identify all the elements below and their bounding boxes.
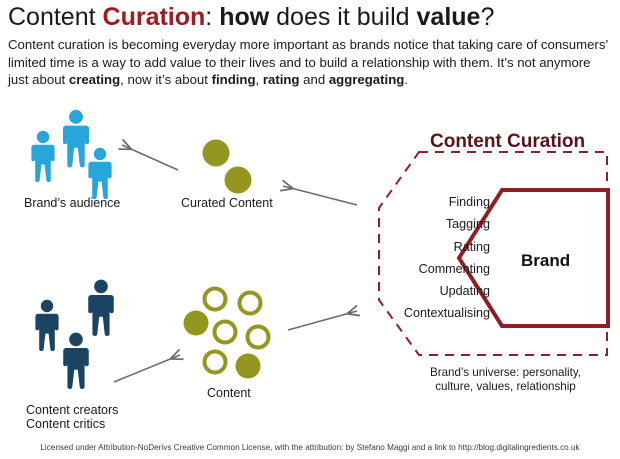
brand-audience-figures [31,110,111,199]
content-label: Content [207,386,251,401]
infographic-canvas: Content Curation: how does it build valu… [0,0,620,459]
audience-person-1 [31,131,54,182]
content-dot-filled-2 [236,354,261,379]
brand-label: Brand [521,251,570,271]
content-creators-figures [35,280,113,389]
curation-step-commenting: Commenting [368,258,490,280]
arrow-creators-to-content [114,355,180,382]
brand-universe-caption-line-2: culture, values, relationship [398,380,613,394]
content-ring-4 [248,327,269,348]
arrow-curated-to-audience [122,145,178,170]
curated-dot-1 [203,140,230,167]
audience-person-3 [88,148,111,199]
brand-universe-caption-line-1: Brand’s universe: personality, [398,366,613,380]
content-dot-filled-1 [184,311,209,336]
curation-step-updating: Updating [368,280,490,302]
curated-content-label: Curated Content [181,196,273,211]
curated-dot-2 [225,167,252,194]
license-footer: Licensed under Attribution-NoDerivs Crea… [0,442,620,453]
content-dots-cluster [184,289,269,379]
arrow-curation-to-curated [283,186,357,205]
content-ring-2 [240,293,261,314]
content-curation-heading: Content Curation [430,131,585,153]
content-ring-1 [205,289,226,310]
brand-universe-caption: Brand’s universe: personality, culture, … [398,366,613,394]
content-ring-3 [215,322,236,343]
audience-person-2 [63,110,89,167]
creator-person-2 [88,280,114,336]
creator-person-1 [35,300,58,351]
curation-steps-list: Finding Tagging Rating Commenting Updati… [368,191,490,325]
creator-person-3 [63,333,89,389]
curated-content-dots [203,140,252,194]
arrow-content-to-curation [288,311,357,330]
curation-step-finding: Finding [368,191,490,213]
content-creators-label: Content creators [26,403,118,418]
content-ring-5 [205,352,226,373]
brand-audience-label: Brand’s audience [24,196,120,211]
curation-step-rating: Rating [368,236,490,258]
curation-step-contextualising: Contextualising [368,302,490,324]
curation-step-tagging: Tagging [368,213,490,235]
content-critics-label: Content critics [26,417,105,432]
